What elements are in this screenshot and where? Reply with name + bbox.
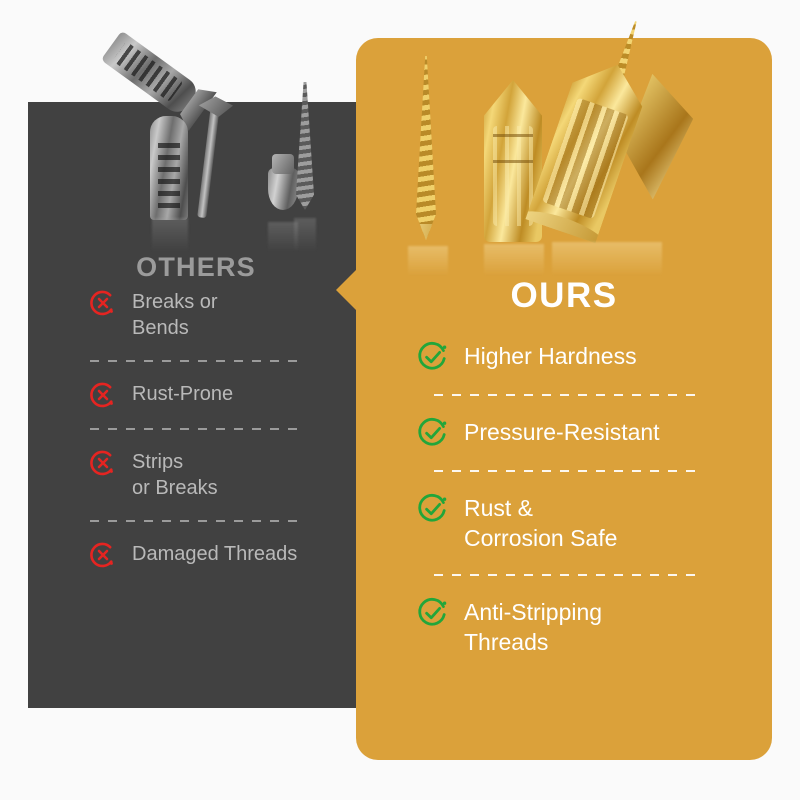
others-feature-list: Breaks or Bends Rust-Prone Strips or Bre… [88,288,364,570]
list-divider [90,360,302,362]
list-divider [90,520,302,522]
list-item-label: Strips or Breaks [132,448,218,502]
list-item-label: Rust & Corrosion Safe [464,492,617,554]
list-item-label: Anti-Stripping Threads [464,596,602,658]
ours-title: OURS [356,276,772,316]
check-circle-icon [416,492,450,526]
list-item-label: Breaks or Bends [132,288,218,342]
list-item: Strips or Breaks [88,448,364,502]
list-item: Pressure-Resistant [416,416,756,450]
list-divider [90,428,302,430]
check-circle-icon [416,340,450,374]
check-circle-icon [416,596,450,630]
cross-circle-icon [88,288,118,318]
list-item-label: Damaged Threads [132,540,297,567]
cross-circle-icon [88,540,118,570]
list-item-label: Pressure-Resistant [464,416,660,447]
list-divider [434,394,700,396]
list-divider [434,574,700,576]
list-item: Damaged Threads [88,540,364,570]
list-divider [434,470,700,472]
list-item: Breaks or Bends [88,288,364,342]
cross-circle-icon [88,380,118,410]
comparison-infographic: OTHERS OURS Breaks or Bends Rust-Prone [0,0,800,800]
ours-feature-list: Higher Hardness Pressure-Resistant Rust … [416,340,756,657]
list-item: Rust & Corrosion Safe [416,492,756,554]
list-item-label: Higher Hardness [464,340,637,371]
list-item: Rust-Prone [88,380,364,410]
list-item: Higher Hardness [416,340,756,374]
cross-circle-icon [88,448,118,478]
list-item: Anti-Stripping Threads [416,596,756,658]
check-circle-icon [416,416,450,450]
list-item-label: Rust-Prone [132,380,233,407]
others-title: OTHERS [28,252,364,283]
